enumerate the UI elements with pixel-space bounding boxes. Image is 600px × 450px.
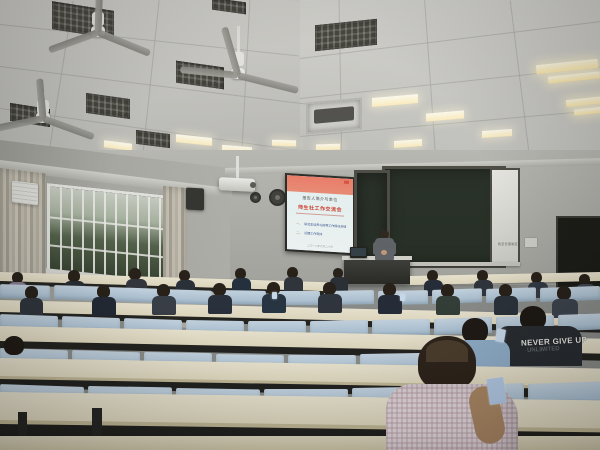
ceiling	[0, 0, 600, 172]
presenter	[372, 230, 398, 262]
whiteboard-panel	[490, 168, 520, 266]
presentation-slide: 报告人简介与单位 师生社工作交流会 一、研究生培养与指导工作情况总结 二、近期工…	[287, 175, 353, 253]
projector-mount	[236, 156, 239, 180]
smartphone	[272, 292, 277, 299]
laptop-screen	[351, 248, 366, 256]
screen-frame: 报告人简介与单位 师生社工作交流会 一、研究生培养与指导工作情况总结 二、近期工…	[285, 173, 355, 255]
attendee	[0, 336, 44, 376]
slide-bullet-number: 一、	[296, 222, 302, 226]
attendee-head	[4, 336, 24, 355]
lecture-hall-photo: 报告人简介与单位 师生社工作交流会 一、研究生培养与指导工作情况总结 二、近期工…	[0, 0, 600, 450]
wall-clock	[269, 189, 286, 206]
ac-cassette-vent	[306, 98, 362, 135]
smartphone	[400, 294, 405, 301]
slide-bullet-number: 二、	[296, 230, 302, 234]
blackboard	[382, 166, 506, 268]
attendee-hair	[426, 340, 468, 362]
slide-band-accent	[344, 181, 349, 184]
projector-lens-icon	[250, 182, 256, 188]
wall-speaker	[186, 188, 204, 211]
wall-sign-text: 教室管理制度	[498, 242, 518, 246]
laptop	[350, 247, 367, 258]
ceiling-panel-light	[272, 140, 296, 147]
presenter-hand	[381, 250, 387, 255]
ceiling-fan	[48, 0, 148, 60]
wall-sign	[525, 238, 537, 247]
presenter-arm	[391, 242, 396, 255]
wall-sensor-icon	[250, 192, 261, 203]
smartphone	[486, 377, 506, 405]
presenter-arm	[373, 242, 378, 255]
projection-screen[interactable]: 报告人简介与单位 师生社工作交流会 一、研究生培养与指导工作情况总结 二、近期工…	[285, 173, 355, 255]
ceiling-fan	[178, 26, 298, 98]
wall-air-conditioner	[12, 180, 38, 205]
